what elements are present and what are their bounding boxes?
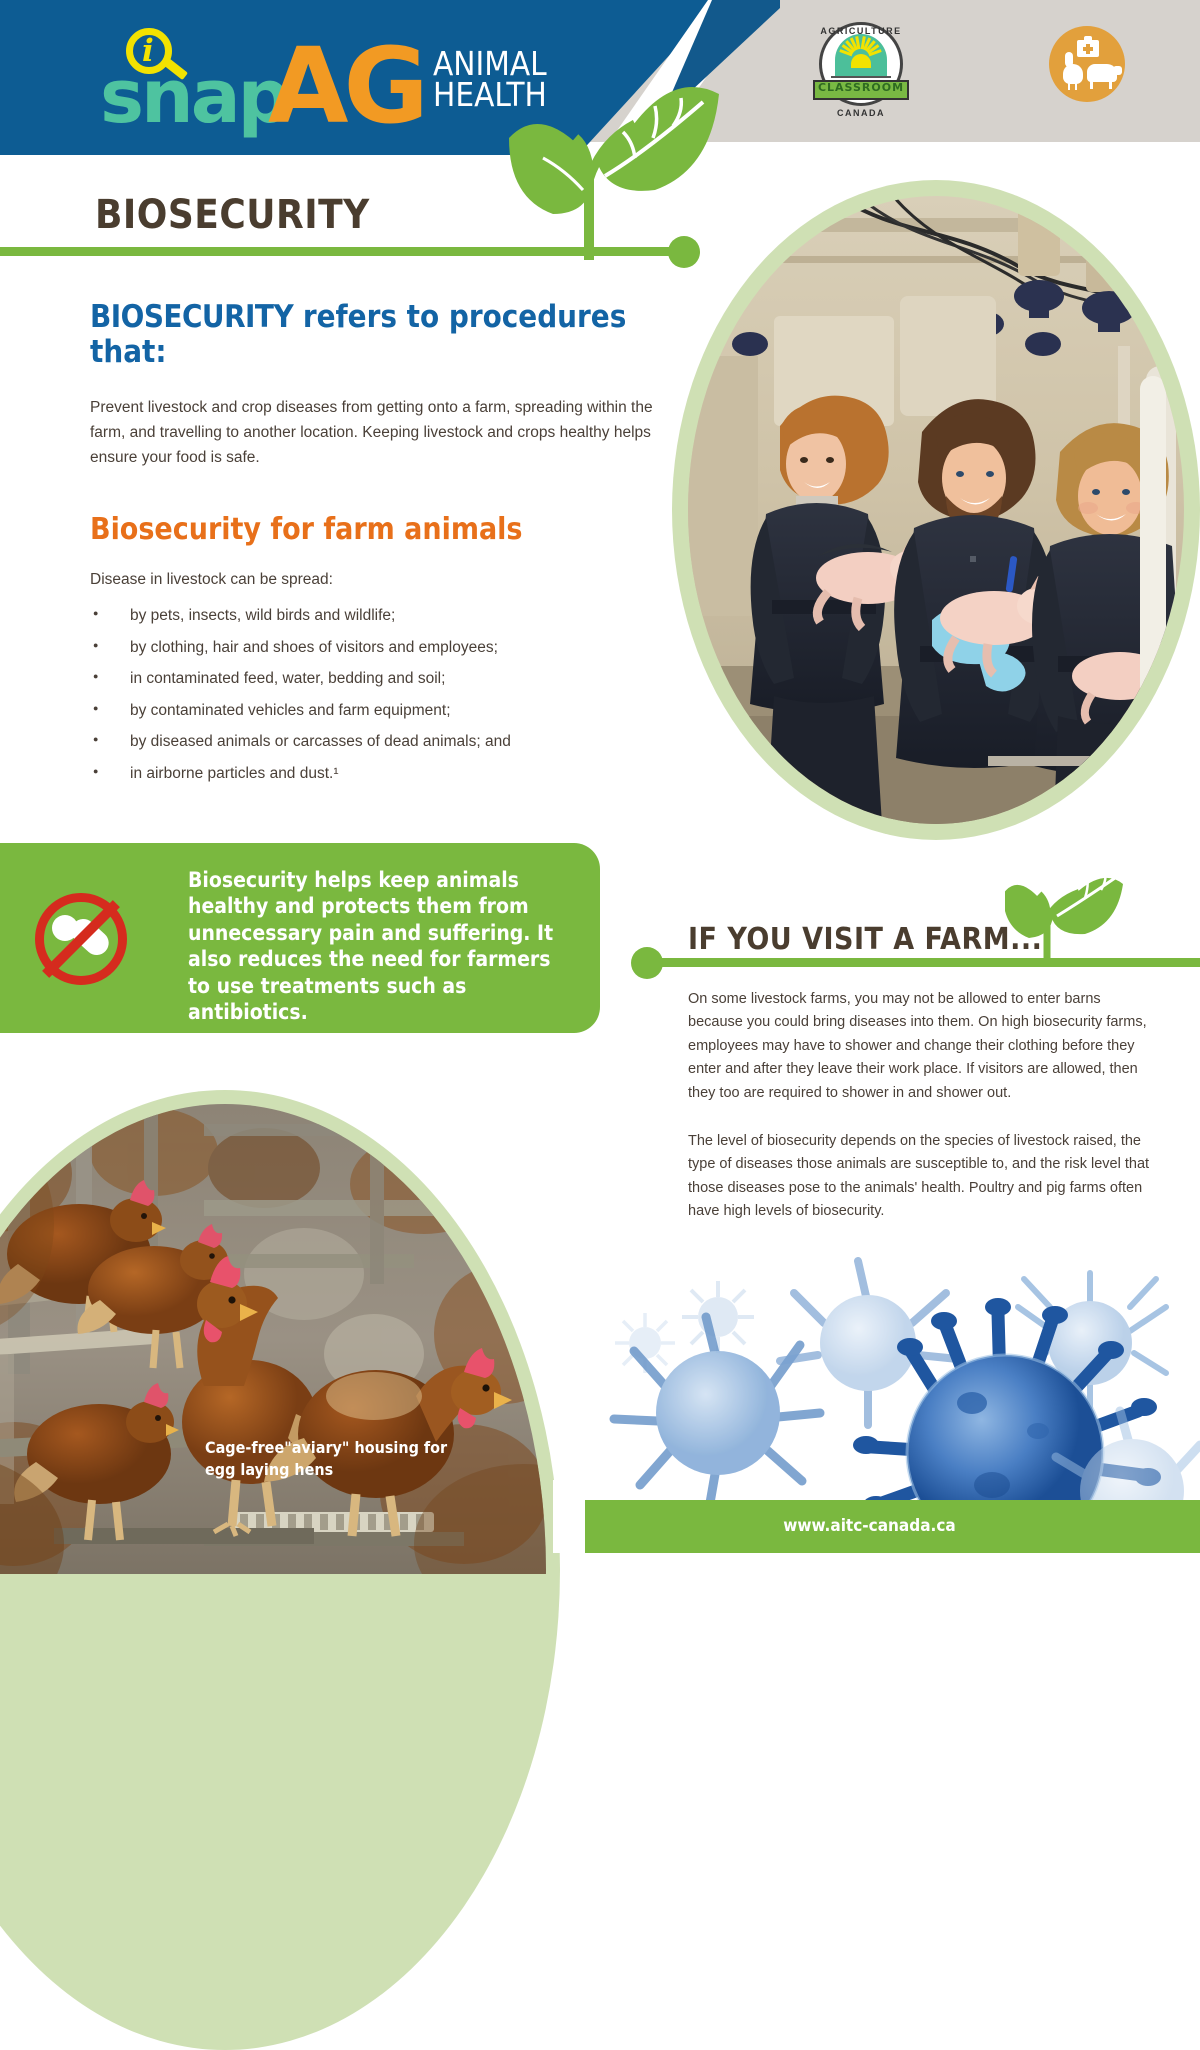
list-item: in contaminated feed, water, bedding and… — [90, 671, 660, 687]
hen-caption-line1: Cage-free"aviary" housing for — [205, 1437, 545, 1459]
logo-ag-text: AG — [268, 34, 424, 138]
callout-box: Biosecurity helps keep animals healthy a… — [0, 843, 600, 1033]
snapag-logo[interactable]: snap AG i ANIMAL HEALTH — [100, 24, 550, 129]
footer-url[interactable]: www.aitc-canada.ca — [585, 1516, 1200, 1536]
divider-dot-1 — [668, 236, 700, 268]
disease-spread-list: by pets, insects, wild birds and wildlif… — [90, 608, 660, 797]
section2-paragraph-1: On some livestock farms, you may not be … — [688, 988, 1148, 1105]
list-item: by contaminated vehicles and farm equipm… — [90, 703, 660, 719]
hen-caption-line2: egg laying hens — [205, 1459, 545, 1481]
aitc-sun-icon — [851, 54, 871, 68]
aitc-logo[interactable]: AGRICULTURE CLASSROOM CANADA — [813, 22, 909, 126]
callout-text: Biosecurity helps keep animals healthy a… — [188, 867, 568, 1026]
list-item: by clothing, hair and shoes of visitors … — [90, 640, 660, 656]
aitc-arc-top: AGRICULTURE — [819, 26, 903, 36]
section1-heading: BIOSECURITY refers to procedures that: — [90, 300, 635, 369]
section1-heading-bold: BIOSECURITY — [90, 299, 293, 335]
magnifier-icon: i — [126, 28, 192, 90]
aitc-arc-bottom: CANADA — [819, 108, 903, 118]
no-antibiotics-icon — [35, 893, 127, 985]
section2-paragraph-2: The level of biosecurity depends on the … — [688, 1130, 1153, 1224]
logo-info-letter: i — [142, 36, 188, 70]
list-item: by diseased animals or carcasses of dead… — [90, 734, 660, 750]
pig-photo — [688, 196, 1184, 824]
aitc-banner-text: CLASSROOM — [813, 81, 909, 94]
pig-icon — [1087, 64, 1117, 82]
hen-photo-caption: Cage-free"aviary" housing for egg laying… — [205, 1437, 545, 1480]
list-item: by pets, insects, wild birds and wildlif… — [90, 608, 660, 624]
chicken-icon — [1063, 64, 1083, 84]
divider-line-2 — [648, 958, 1200, 967]
virus-illustration — [600, 1235, 1200, 1500]
page-title: BIOSECURITY — [95, 192, 370, 238]
section1-lead: Disease in livestock can be spread: — [90, 568, 650, 593]
hen-photo-container — [0, 1090, 560, 1553]
pig-photo-container — [672, 180, 1200, 840]
divider-dot-2 — [631, 947, 663, 979]
list-item: in airborne particles and dust.¹ — [90, 766, 660, 782]
page-footer: www.aitc-canada.ca — [585, 1500, 1200, 1553]
section1-subheading: Biosecurity for farm animals — [90, 512, 522, 547]
section1-paragraph: Prevent livestock and crop diseases from… — [90, 395, 670, 470]
leaf-sprout-graphic — [505, 30, 725, 260]
divider-line-1 — [0, 247, 680, 256]
section2-title: IF YOU VISIT A FARM... — [688, 922, 1042, 957]
animal-health-icon[interactable] — [1049, 26, 1125, 102]
